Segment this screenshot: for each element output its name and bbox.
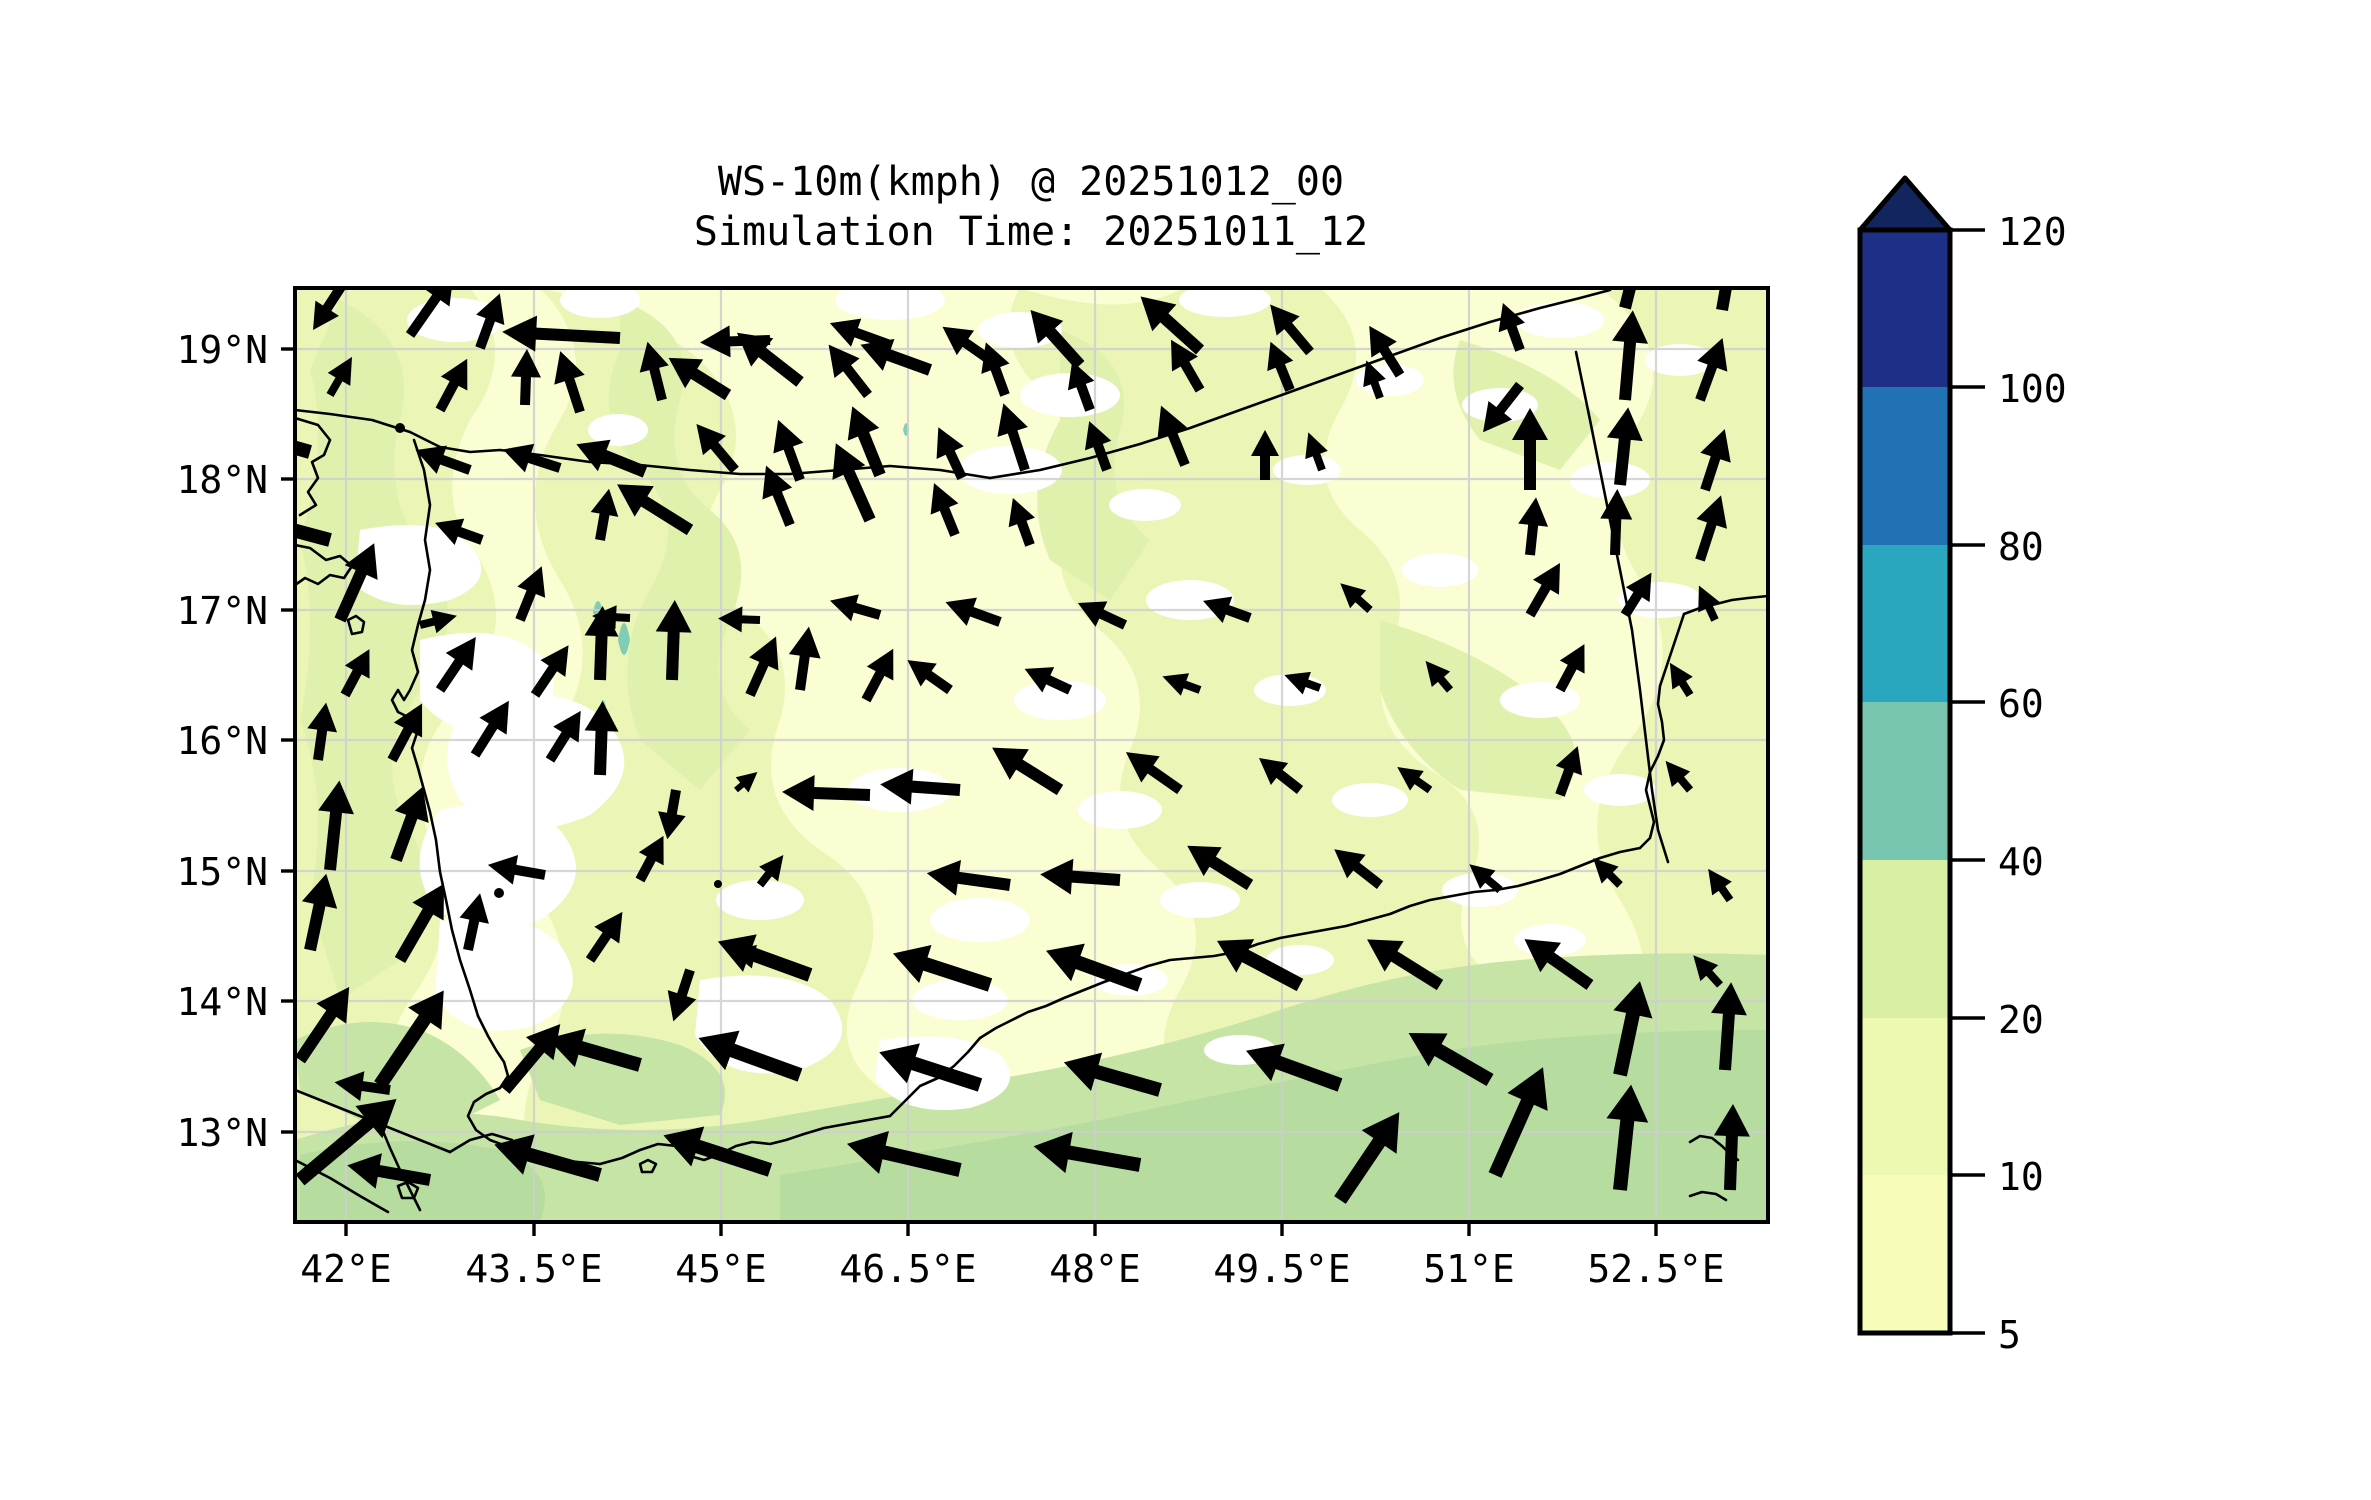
colorbar-band-60-80 (1860, 545, 1950, 702)
x-tick-label: 42°E (300, 1247, 392, 1291)
colorbar-tick-label: 100 (1998, 367, 2067, 411)
y-tick-label: 18°N (176, 458, 268, 502)
y-tick-label: 19°N (176, 328, 268, 372)
y-tick-label: 17°N (176, 589, 268, 633)
colorbar-band-20-40 (1860, 860, 1950, 1018)
x-tick-label: 48°E (1049, 1247, 1141, 1291)
chart-title-line1: WS-10m(kmph) @ 20251012_00 (718, 159, 1344, 205)
chart-title-line2: Simulation Time: 20251011_12 (694, 209, 1368, 255)
colorbar-tick-label: 10 (1998, 1155, 2044, 1199)
y-tick-label: 16°N (176, 719, 268, 763)
wind-speed-map-figure: WS-10m(kmph) @ 20251012_00 Simulation Ti… (0, 0, 2371, 1500)
x-tick-label: 46.5°E (839, 1247, 976, 1291)
x-tick-label: 49.5°E (1213, 1247, 1350, 1291)
colorbar-band-5-10 (1860, 1175, 1950, 1333)
y-tick-label: 15°N (176, 850, 268, 894)
colorbar-tick-label: 80 (1998, 525, 2044, 569)
colorbar-band-10-20 (1860, 1018, 1950, 1175)
x-tick-label: 51°E (1423, 1247, 1515, 1291)
x-tick-label: 52.5°E (1587, 1247, 1724, 1291)
x-tick-label: 43.5°E (465, 1247, 602, 1291)
colorbar-tick-label: 20 (1998, 998, 2044, 1042)
colorbar-tick-label: 60 (1998, 682, 2044, 726)
colorbar-tick-label: 120 (1998, 210, 2067, 254)
map-plot-area[interactable] (174, 226, 1768, 1222)
x-tick-label: 45°E (675, 1247, 767, 1291)
colorbar-band-40-60 (1860, 702, 1950, 860)
colorbar-tick-label: 5 (1998, 1313, 2021, 1357)
colorbar-tick-label: 40 (1998, 840, 2044, 884)
colorbar-band-100-120 (1860, 230, 1950, 387)
y-tick-label: 13°N (176, 1111, 268, 1155)
y-tick-label: 14°N (176, 980, 268, 1024)
colorbar-band-80-100 (1860, 387, 1950, 545)
